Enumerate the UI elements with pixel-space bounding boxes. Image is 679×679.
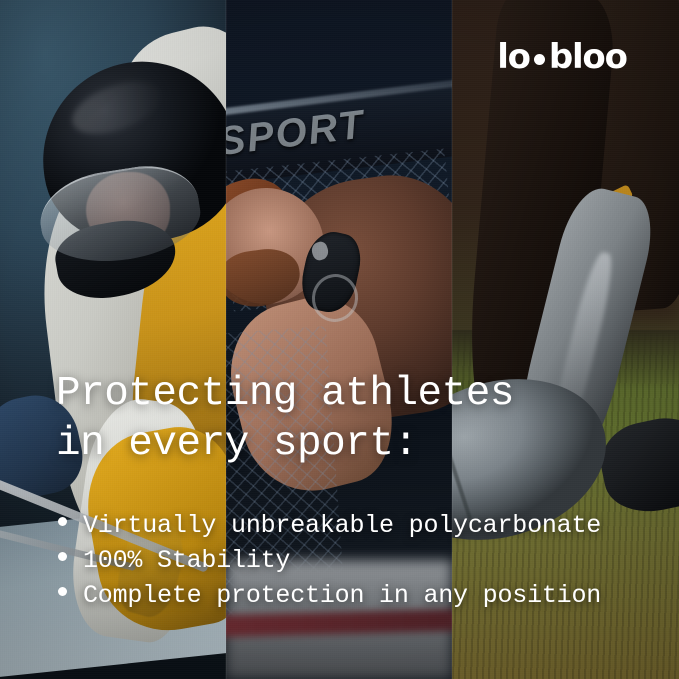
panel-mma: SPORT <box>226 0 452 679</box>
panel-hockey <box>0 0 226 679</box>
advertisement-banner: SPORT lo b <box>0 0 679 679</box>
panel-rugby <box>452 0 679 679</box>
